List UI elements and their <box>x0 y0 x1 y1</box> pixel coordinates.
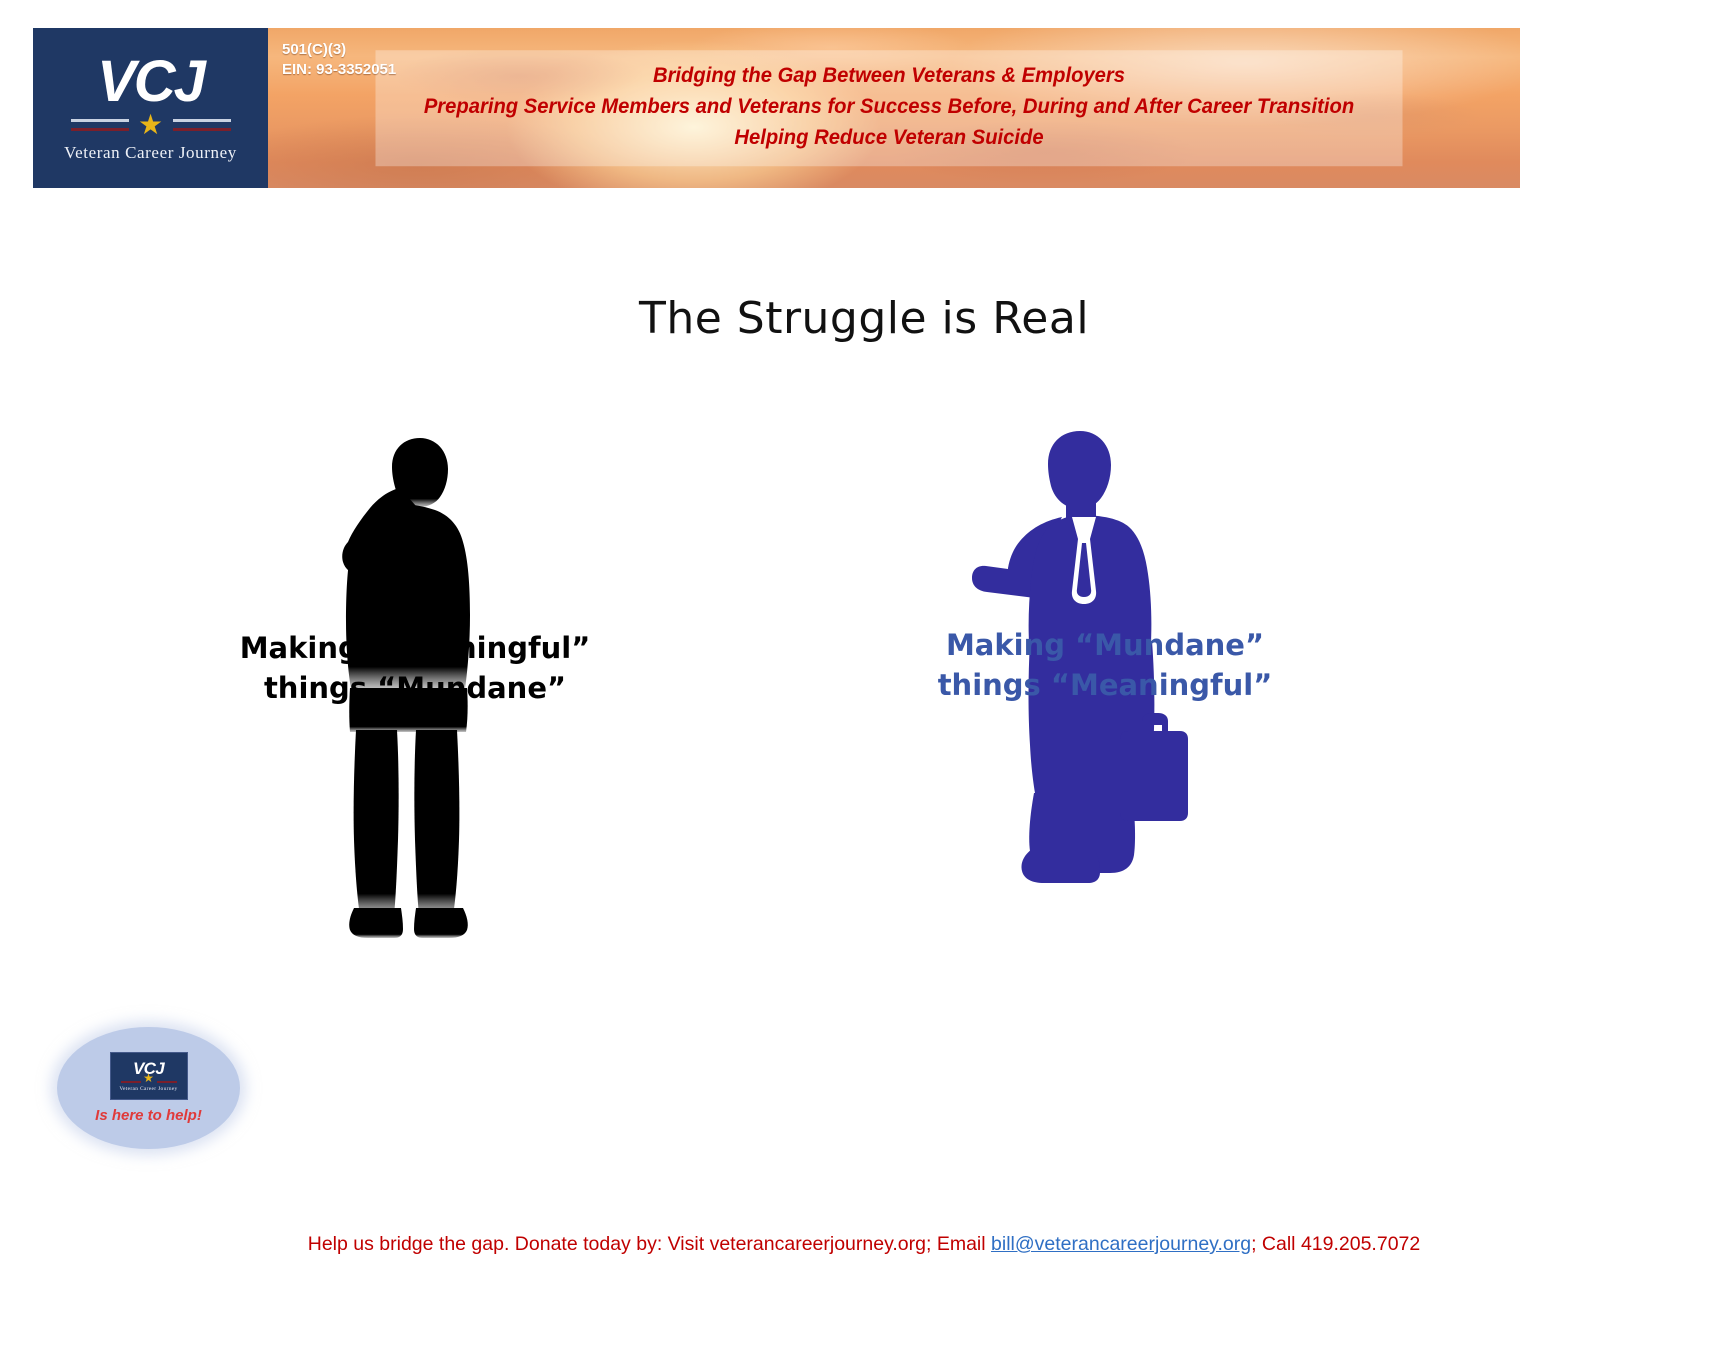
right-figure-caption: Making “Mundane” things “Meaningful” <box>905 625 1305 705</box>
banner-line-1: Bridging the Gap Between Veterans & Empl… <box>412 60 1366 91</box>
footer-email-label: ; Email <box>926 1233 991 1255</box>
here-to-help-badge: VCJ ★ Veteran Career Journey Is here to … <box>57 1027 240 1149</box>
footer-lead-text: Help us bridge the gap. Donate today by:… <box>308 1233 710 1255</box>
ein-number: EIN: 93-3352051 <box>282 60 396 80</box>
badge-tagline: Is here to help! <box>95 1107 202 1124</box>
nonprofit-info: 501(C)(3) EIN: 93-3352051 <box>282 40 396 80</box>
banner-tagline-block: Bridging the Gap Between Veterans & Empl… <box>376 50 1403 166</box>
vcj-logo: VCJ ★ Veteran Career Journey <box>33 28 268 188</box>
banner-line-3: Helping Reduce Veteran Suicide <box>412 123 1366 154</box>
logo-organization-name: Veteran Career Journey <box>64 143 237 163</box>
star-icon: ★ <box>143 1072 154 1084</box>
badge-organization-name: Veteran Career Journey <box>119 1086 177 1092</box>
page-title: The Struggle is Real <box>0 293 1728 344</box>
footer-phone-label: ; Call <box>1251 1233 1301 1255</box>
badge-vcj-logo: VCJ ★ Veteran Career Journey <box>110 1052 188 1100</box>
nonprofit-status: 501(C)(3) <box>282 40 396 60</box>
star-icon: ★ <box>138 114 163 136</box>
footer-phone-number: 419.205.7072 <box>1301 1233 1420 1255</box>
footer-website: veterancareerjourney.org <box>710 1233 926 1255</box>
badge-star-divider: ★ <box>121 1078 177 1085</box>
banner-line-2: Preparing Service Members and Veterans f… <box>412 91 1366 122</box>
logo-wordmark: VCJ <box>97 53 204 111</box>
page-header: VCJ ★ Veteran Career Journey 501(C)(3) E… <box>33 28 1520 188</box>
left-figure-caption: Making “Meaningful” things “Mundane” <box>215 628 615 708</box>
footer-email-link[interactable]: bill@veterancareerjourney.org <box>991 1233 1251 1255</box>
header-banner: 501(C)(3) EIN: 93-3352051 Bridging the G… <box>268 28 1520 188</box>
footer-donate-line: Help us bridge the gap. Donate today by:… <box>0 1233 1728 1256</box>
logo-star-divider: ★ <box>71 116 231 138</box>
